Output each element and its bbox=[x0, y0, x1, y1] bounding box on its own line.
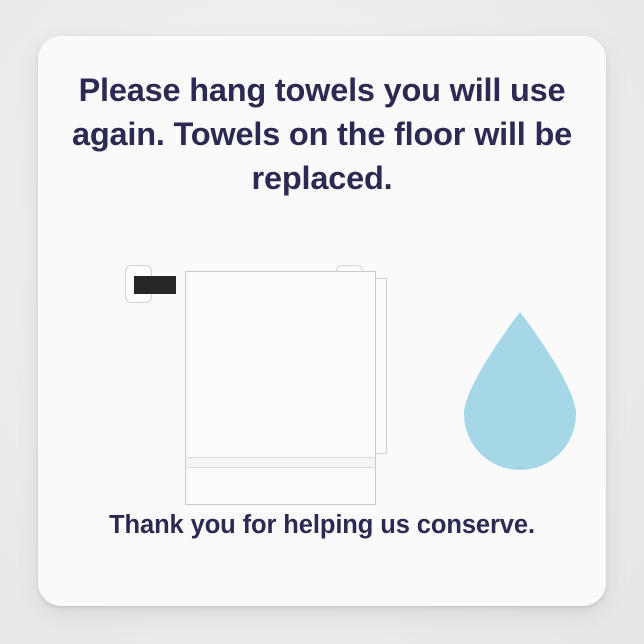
water-droplet-icon bbox=[458, 308, 582, 473]
towel-hem-band bbox=[186, 457, 375, 468]
hanging-towel bbox=[185, 271, 376, 505]
sign-footer-text: Thank you for helping us conserve. bbox=[62, 508, 582, 542]
towel-rack-illustration bbox=[78, 224, 408, 474]
sign-headline: Please hang towels you will use again. T… bbox=[66, 68, 578, 200]
towel-conservation-sign-card: Please hang towels you will use again. T… bbox=[38, 36, 606, 606]
rack-rod-left bbox=[134, 276, 176, 294]
